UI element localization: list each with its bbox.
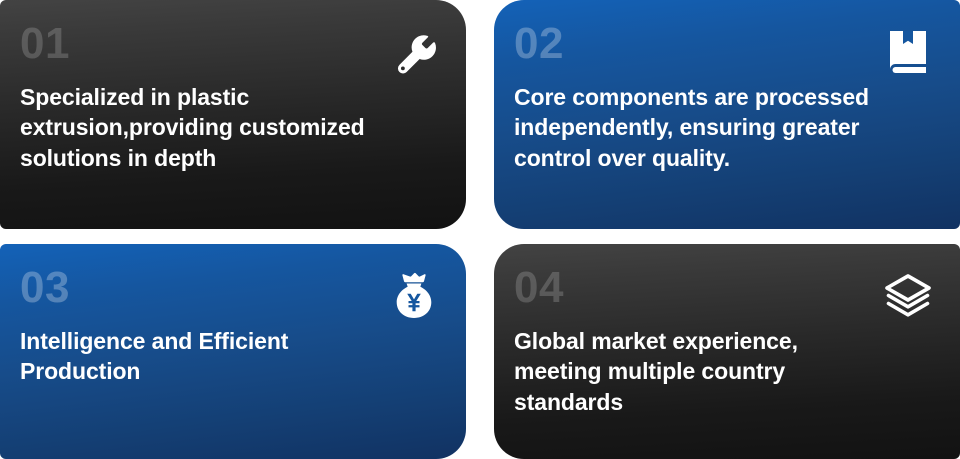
feature-card-03[interactable]: 03 Intelligence and Efficient Production [0,244,466,459]
card-number-03: 03 [20,266,440,310]
feature-card-04[interactable]: 04 Global market experience, meeting mul… [494,244,960,459]
card-number-02: 02 [514,22,934,66]
feature-card-grid: 01 Specialized in plastic extrusion,prov… [0,0,960,459]
feature-card-02[interactable]: 02 Core components are processed indepen… [494,0,960,229]
card-number-04: 04 [514,266,934,310]
card-title-02: Core components are processed independen… [514,82,934,173]
card-title-01: Specialized in plastic extrusion,providi… [20,82,440,173]
card-title-04: Global market experience, meeting multip… [514,326,934,417]
card-number-01: 01 [20,22,440,66]
feature-card-01[interactable]: 01 Specialized in plastic extrusion,prov… [0,0,466,229]
card-title-03: Intelligence and Efficient Production [20,326,440,387]
